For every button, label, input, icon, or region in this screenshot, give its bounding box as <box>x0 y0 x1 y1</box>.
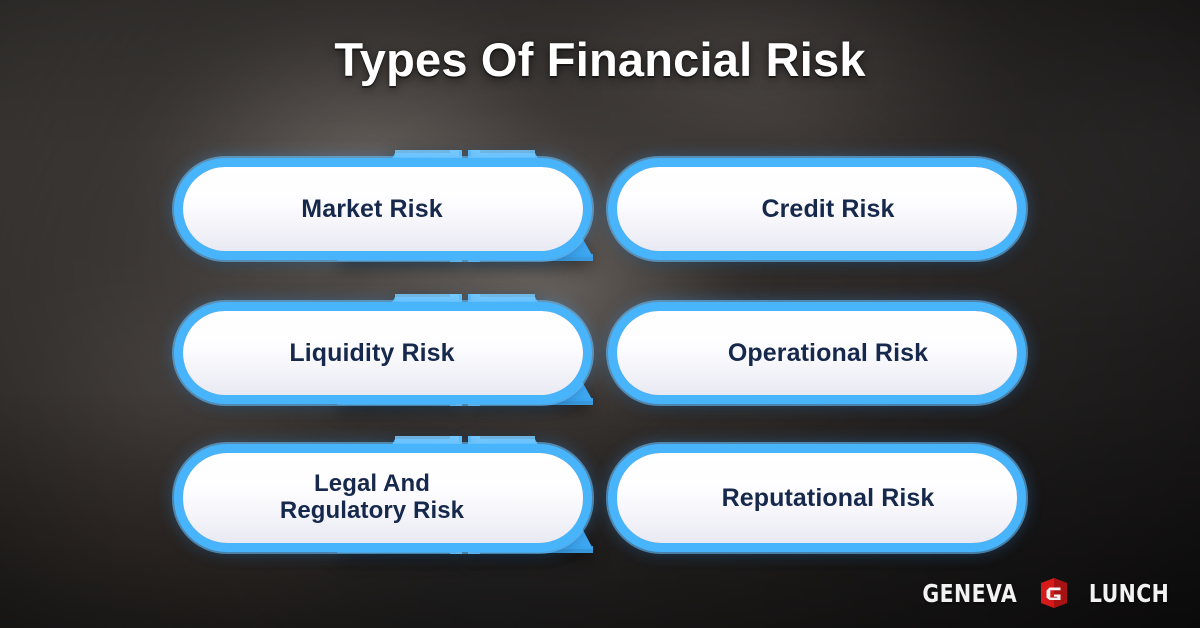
risk-list: Market Risk <box>0 0 1200 628</box>
risk-pill[interactable]: Operational Risk <box>617 311 1017 395</box>
risk-label: Reputational Risk <box>722 484 935 512</box>
infographic-canvas: Types Of Financial Risk <box>0 0 1200 628</box>
risk-pill[interactable]: Credit Risk <box>617 167 1017 251</box>
risk-label-line-2: Regulatory Risk <box>280 497 464 524</box>
brand-name-lunch: LUNCH <box>1089 579 1169 608</box>
risk-pill[interactable]: Legal And Regulatory Risk <box>183 453 583 543</box>
risk-label: Credit Risk <box>761 195 894 223</box>
risk-label: Legal And Regulatory Risk <box>280 471 464 525</box>
risk-label: Market Risk <box>301 195 442 223</box>
risk-label: Operational Risk <box>728 339 928 367</box>
brand-logo[interactable]: GENEVA LUNCH <box>912 576 1178 610</box>
risk-pill[interactable]: Liquidity Risk <box>183 311 583 395</box>
risk-label: Liquidity Risk <box>289 339 454 367</box>
risk-label-line-1: Legal And <box>314 470 430 497</box>
geneva-lunch-g-emblem-icon <box>1037 576 1071 610</box>
brand-name-geneva: GENEVA <box>923 579 1018 608</box>
risk-pill[interactable]: Reputational Risk <box>617 453 1017 543</box>
risk-pill[interactable]: Market Risk <box>183 167 583 251</box>
